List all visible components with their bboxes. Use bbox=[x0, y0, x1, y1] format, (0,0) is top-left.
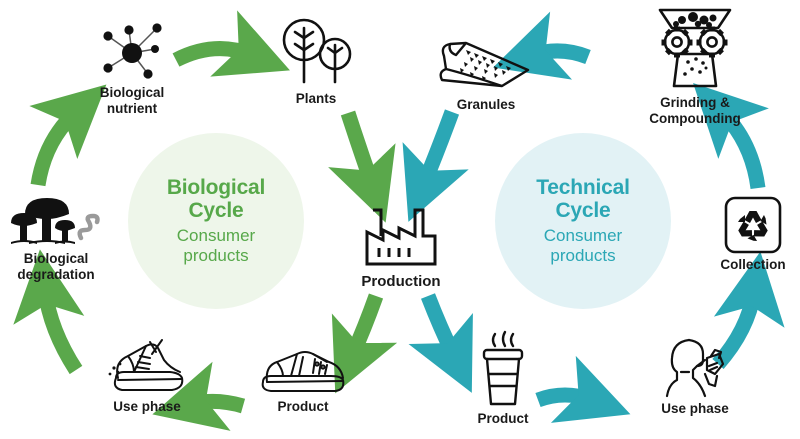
node-label-line2: Compounding bbox=[649, 111, 740, 126]
node-biological-degradation: Biological degradation bbox=[0, 190, 112, 282]
node-label-line1: Biological bbox=[100, 85, 165, 100]
node-label: Plants bbox=[296, 91, 337, 107]
node-grinding-compounding: Grinding & Compounding bbox=[622, 4, 768, 126]
person-drinking-icon bbox=[659, 336, 731, 398]
node-label-line2: nutrient bbox=[107, 101, 157, 116]
node-collection: Collection bbox=[710, 196, 796, 273]
hub-title-line1: Biological bbox=[167, 176, 265, 200]
flow-arrow-production-to-product-tech bbox=[428, 296, 454, 356]
mushrooms-worm-icon bbox=[7, 190, 105, 248]
hub-subtitle-line1: Consumer bbox=[177, 226, 255, 246]
flow-arrow-use-to-degradation bbox=[45, 290, 76, 370]
hub-subtitle-line1: Consumer bbox=[544, 226, 622, 246]
node-label: Use phase bbox=[661, 401, 729, 417]
recycle-icon bbox=[724, 196, 782, 254]
hub-title-line1: Technical bbox=[536, 176, 630, 200]
node-label: Use phase bbox=[113, 399, 181, 415]
biological-cycle-hub: Biological Cycle Consumer products bbox=[128, 133, 304, 309]
granules-tray-icon bbox=[436, 36, 536, 94]
molecule-icon bbox=[95, 22, 169, 82]
node-product-biological: Product bbox=[248, 340, 358, 415]
node-granules: Granules bbox=[424, 36, 548, 113]
flow-arrow-plants-to-production bbox=[348, 113, 372, 184]
sneaker-icon bbox=[257, 340, 349, 396]
node-use-phase-technical: Use phase bbox=[642, 336, 748, 417]
node-label-line2: degradation bbox=[17, 267, 94, 282]
trees-icon bbox=[277, 14, 355, 88]
sneaker-worn-icon bbox=[104, 338, 190, 396]
node-plants: Plants bbox=[262, 14, 370, 107]
node-label: Collection bbox=[720, 257, 785, 273]
node-label-line1: Biological bbox=[24, 251, 89, 266]
circular-economy-diagram: Biological Cycle Consumer products Techn… bbox=[0, 0, 800, 439]
hub-subtitle-line2: products bbox=[183, 246, 248, 266]
node-production: Production bbox=[336, 206, 466, 290]
hub-title-line2: Cycle bbox=[188, 199, 243, 223]
node-label: Granules bbox=[457, 97, 516, 112]
node-use-phase-biological: Use phase bbox=[92, 338, 202, 415]
coffee-cup-icon bbox=[471, 330, 535, 408]
node-label: Product bbox=[277, 399, 328, 415]
hub-title-line2: Cycle bbox=[555, 199, 610, 223]
flow-arrow-degradation-to-nutrient bbox=[38, 112, 76, 185]
node-product-technical: Product bbox=[457, 330, 549, 427]
node-label: Product bbox=[477, 411, 528, 427]
node-label: Production bbox=[361, 273, 440, 290]
node-biological-nutrient: Biological nutrient bbox=[74, 22, 190, 116]
technical-cycle-hub: Technical Cycle Consumer products bbox=[495, 133, 671, 309]
flow-arrow-granules-to-production bbox=[424, 112, 452, 184]
factory-icon bbox=[361, 206, 441, 268]
grinder-gears-icon bbox=[648, 4, 742, 92]
node-label-line1: Grinding & bbox=[660, 95, 730, 110]
hub-subtitle-line2: products bbox=[550, 246, 615, 266]
